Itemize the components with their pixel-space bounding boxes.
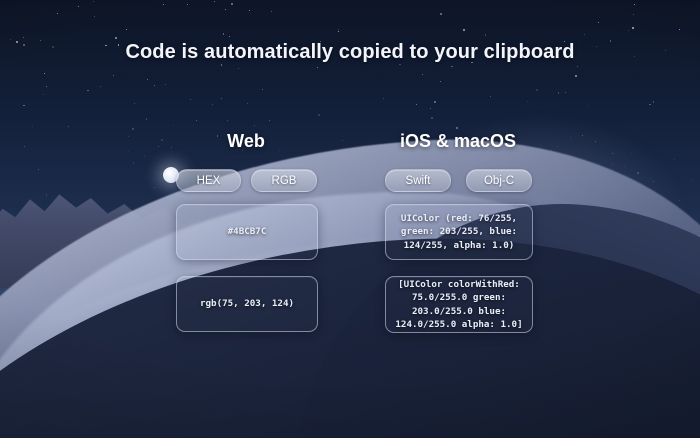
- overlay-ui: Code is automatically copied to your cli…: [0, 0, 700, 438]
- column-heading-web: Web: [176, 131, 316, 152]
- code-value-hex: #4BCB7C: [222, 225, 273, 239]
- tab-hex[interactable]: HEX: [176, 169, 241, 192]
- tab-rgb[interactable]: RGB: [251, 169, 317, 192]
- code-value-rgb: rgb(75, 203, 124): [194, 297, 300, 311]
- tab-swift[interactable]: Swift: [385, 169, 451, 192]
- tab-objc[interactable]: Obj-C: [466, 169, 532, 192]
- code-box-rgb[interactable]: rgb(75, 203, 124): [176, 276, 318, 332]
- wallpaper-stage: Code is automatically copied to your cli…: [0, 0, 700, 438]
- column-heading-ios-macos: iOS & macOS: [385, 131, 531, 152]
- code-value-objc: [UIColor colorWithRed: 75.0/255.0 green:…: [389, 278, 528, 332]
- code-box-hex[interactable]: #4BCB7C: [176, 204, 318, 260]
- code-box-swift[interactable]: UIColor (red: 76/255, green: 203/255, bl…: [385, 204, 533, 260]
- code-value-swift: UIColor (red: 76/255, green: 203/255, bl…: [395, 212, 523, 253]
- code-box-objc[interactable]: [UIColor colorWithRed: 75.0/255.0 green:…: [385, 276, 533, 333]
- page-title: Code is automatically copied to your cli…: [0, 41, 700, 64]
